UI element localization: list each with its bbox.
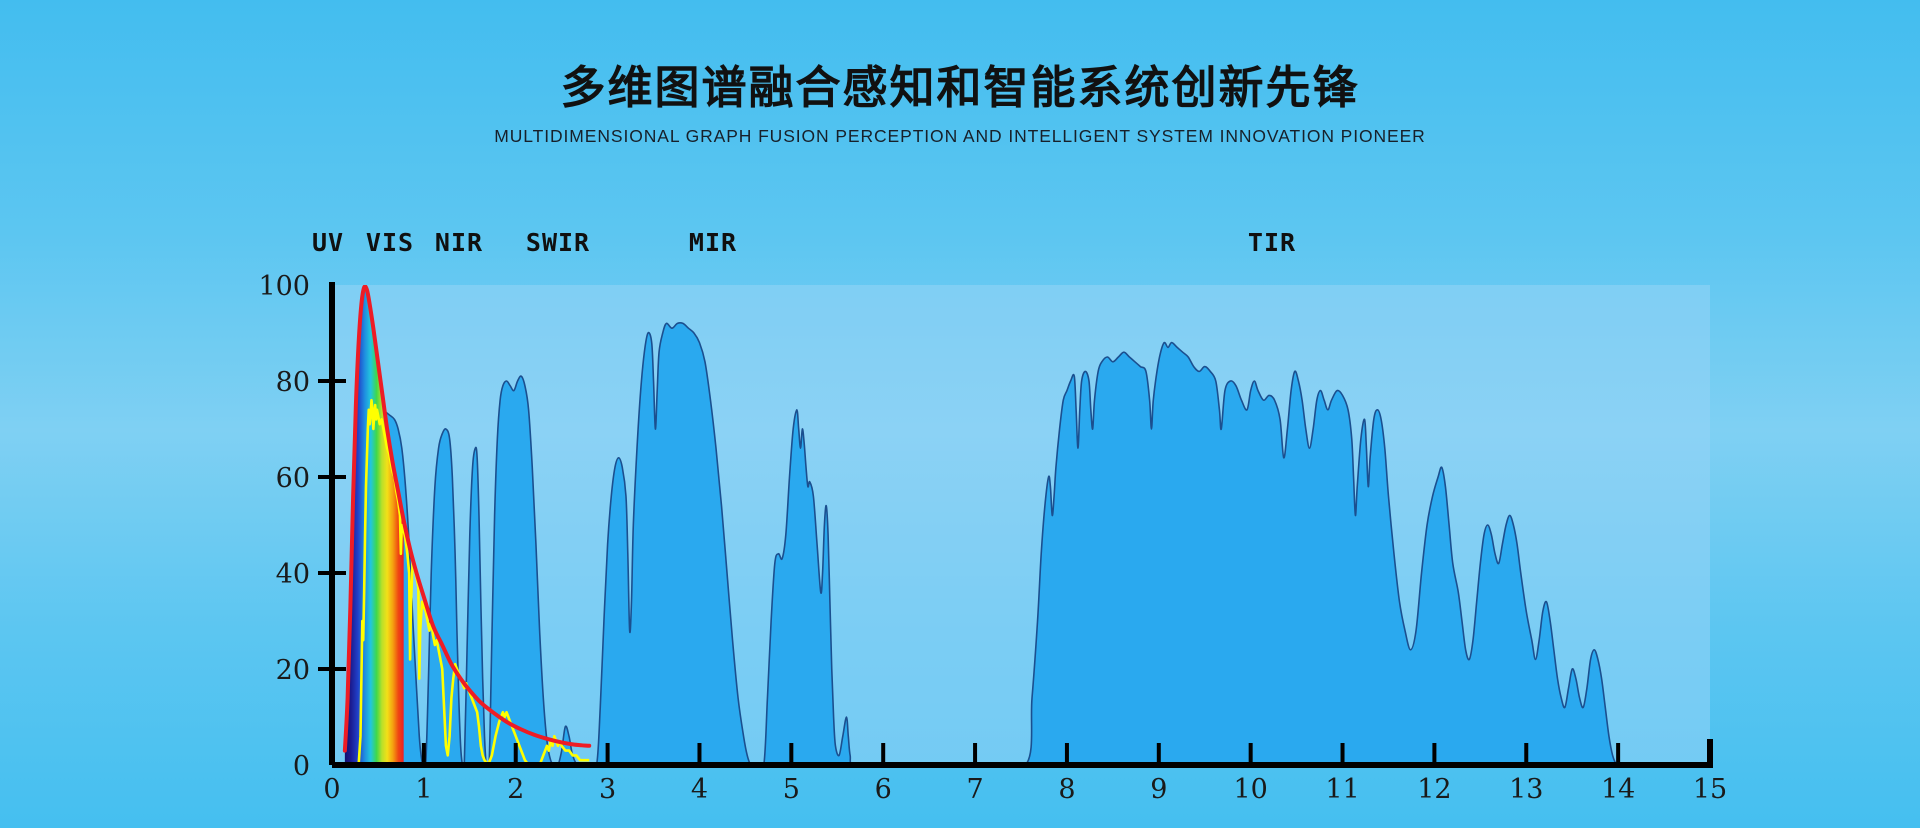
- x-tick-label: 15: [1693, 774, 1727, 805]
- poster-root: 多维图谱融合感知和智能系统创新先锋 MULTIDIMENSIONAL GRAPH…: [0, 0, 1920, 828]
- x-tick-label: 13: [1509, 774, 1543, 805]
- x-tick-label: 10: [1233, 774, 1267, 805]
- x-tick-label: 8: [1058, 774, 1075, 805]
- y-tick-label: 20: [276, 655, 310, 686]
- x-tick-label: 1: [415, 774, 432, 805]
- x-tick-label: 3: [599, 774, 616, 805]
- y-tick-label: 40: [276, 559, 310, 590]
- x-tick-label: 11: [1325, 774, 1359, 805]
- x-tick-label: 14: [1601, 774, 1635, 805]
- x-tick-label: 2: [507, 774, 524, 805]
- x-tick-label: 7: [966, 774, 983, 805]
- x-tick-label: 6: [875, 774, 892, 805]
- x-tick-label: 9: [1150, 774, 1167, 805]
- x-tick-label: 4: [691, 774, 708, 805]
- chart-svg: 020406080100 0123456789101112131415: [0, 0, 1920, 828]
- spectrum-chart: 020406080100 0123456789101112131415: [0, 0, 1920, 828]
- y-tick-labels: 020406080100: [258, 271, 310, 782]
- y-tick-label: 0: [293, 751, 310, 782]
- x-tick-label: 0: [323, 774, 340, 805]
- y-tick-label: 60: [276, 463, 310, 494]
- x-tick-label: 12: [1417, 774, 1451, 805]
- y-tick-label: 80: [276, 367, 310, 398]
- x-tick-labels: 0123456789101112131415: [323, 774, 1727, 805]
- y-tick-label: 100: [258, 271, 310, 302]
- x-tick-label: 5: [783, 774, 800, 805]
